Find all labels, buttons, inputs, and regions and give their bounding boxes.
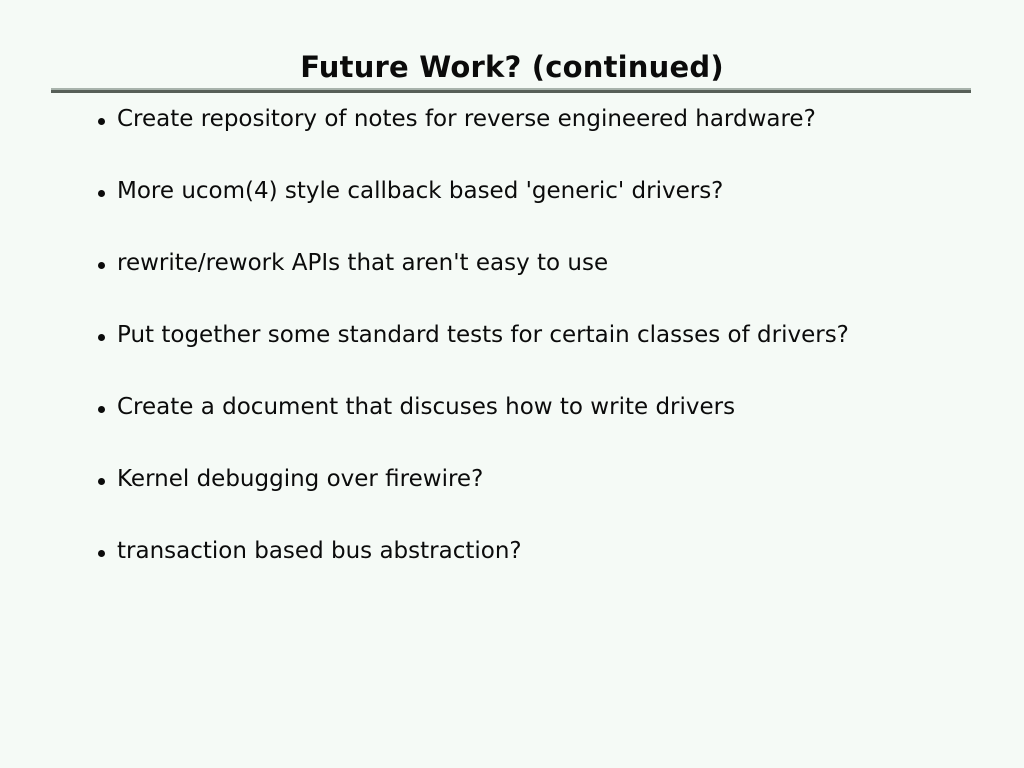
list-item: Create a document that discuses how to w… <box>95 392 995 464</box>
bullet-point-icon <box>98 190 105 197</box>
bullet-point-icon <box>98 118 105 125</box>
title-divider-body <box>51 90 971 93</box>
bullet-point-icon <box>98 406 105 413</box>
slide-title: Future Work? (continued) <box>0 50 1024 84</box>
list-item: Create repository of notes for reverse e… <box>95 104 995 176</box>
list-item-label: Create a document that discuses how to w… <box>117 392 735 422</box>
list-item-label: More ucom(4) style callback based 'gener… <box>117 176 723 206</box>
bullet-point-icon <box>98 478 105 485</box>
list-item-label: Create repository of notes for reverse e… <box>117 104 816 134</box>
list-item-label: transaction based bus abstraction? <box>117 536 522 566</box>
bullet-list: Create repository of notes for reverse e… <box>95 104 995 608</box>
list-item-label: Kernel debugging over firewire? <box>117 464 483 494</box>
presentation-slide: Future Work? (continued) Create reposito… <box>0 0 1024 768</box>
list-item-label: Put together some standard tests for cer… <box>117 320 849 350</box>
title-divider <box>51 88 971 93</box>
list-item: Kernel debugging over firewire? <box>95 464 995 536</box>
list-item: rewrite/rework APIs that aren't easy to … <box>95 248 995 320</box>
list-item: Put together some standard tests for cer… <box>95 320 995 392</box>
bullet-point-icon <box>98 550 105 557</box>
list-item: transaction based bus abstraction? <box>95 536 995 608</box>
bullet-point-icon <box>98 262 105 269</box>
list-item-label: rewrite/rework APIs that aren't easy to … <box>117 248 608 278</box>
bullet-point-icon <box>98 334 105 341</box>
list-item: More ucom(4) style callback based 'gener… <box>95 176 995 248</box>
